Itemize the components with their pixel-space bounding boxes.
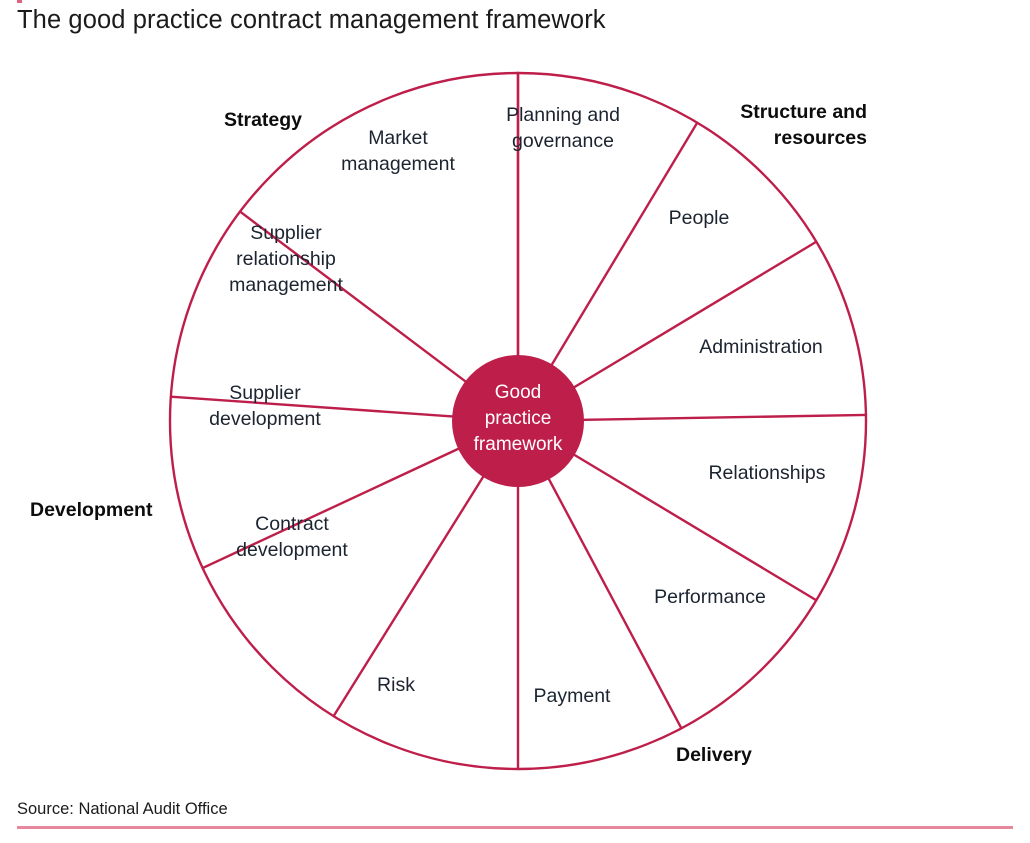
- segment-label-line2: governance: [512, 130, 614, 152]
- group-label-line1: Strategy: [224, 109, 302, 131]
- segment-contract-development: Contractdevelopment: [236, 513, 348, 561]
- group-label-structure-and-resources: Structure andresources: [740, 101, 867, 149]
- group-label-delivery: Delivery: [676, 744, 752, 766]
- group-label-development: Development: [30, 499, 153, 521]
- center-hub: Good practice framework: [452, 355, 584, 487]
- center-label-line2: practice: [485, 408, 552, 429]
- group-labels-group: StrategyStructure andresourcesDevelopmen…: [30, 101, 867, 766]
- segment-label-line2: relationship: [236, 248, 336, 270]
- group-label-line1: Development: [30, 499, 153, 521]
- segment-label-line1: Administration: [699, 336, 823, 358]
- segment-performance: Performance: [654, 586, 766, 608]
- segment-label-line1: People: [669, 207, 730, 229]
- segment-label-line1: Contract: [255, 513, 329, 535]
- group-label-line1: Delivery: [676, 744, 752, 766]
- segment-label-line1: Payment: [534, 685, 612, 707]
- bottom-divider-rule: [17, 826, 1013, 829]
- segment-divider: [552, 123, 697, 365]
- segment-label-line2: development: [236, 539, 348, 561]
- segment-label-line1: Planning and: [506, 104, 620, 126]
- segment-label-line1: Performance: [654, 586, 766, 608]
- segment-divider: [584, 415, 866, 420]
- segment-risk: Risk: [377, 674, 415, 696]
- segment-label-line2: management: [341, 153, 455, 175]
- segment-label-line1: Supplier: [229, 382, 301, 404]
- center-label-line1: Good: [495, 382, 541, 403]
- segment-people: People: [669, 207, 730, 229]
- group-label-strategy: Strategy: [224, 109, 302, 131]
- segment-relationships: Relationships: [708, 462, 825, 484]
- framework-wheel-diagram: Planning andgovernancePeopleAdministrati…: [0, 0, 1030, 790]
- segment-administration: Administration: [699, 336, 823, 358]
- segment-payment: Payment: [534, 685, 612, 707]
- segment-label-line1: Risk: [377, 674, 415, 696]
- center-label-line3: framework: [474, 434, 563, 455]
- segment-supplier-relationship-management: Supplierrelationshipmanagement: [229, 222, 343, 296]
- segment-label-line1: Supplier: [250, 222, 322, 244]
- segment-label-line3: management: [229, 274, 343, 296]
- segment-planning-and-governance: Planning andgovernance: [506, 104, 620, 152]
- segment-divider: [575, 242, 817, 387]
- group-label-line2: resources: [774, 127, 867, 149]
- group-label-line1: Structure and: [740, 101, 867, 123]
- segment-label-line1: Relationships: [708, 462, 825, 484]
- segment-market-management: Marketmanagement: [341, 127, 455, 175]
- source-note: Source: National Audit Office: [17, 800, 228, 819]
- segment-label-line2: development: [209, 408, 321, 430]
- segment-label-line1: Market: [368, 127, 428, 149]
- wheel-svg: Planning andgovernancePeopleAdministrati…: [0, 0, 1030, 790]
